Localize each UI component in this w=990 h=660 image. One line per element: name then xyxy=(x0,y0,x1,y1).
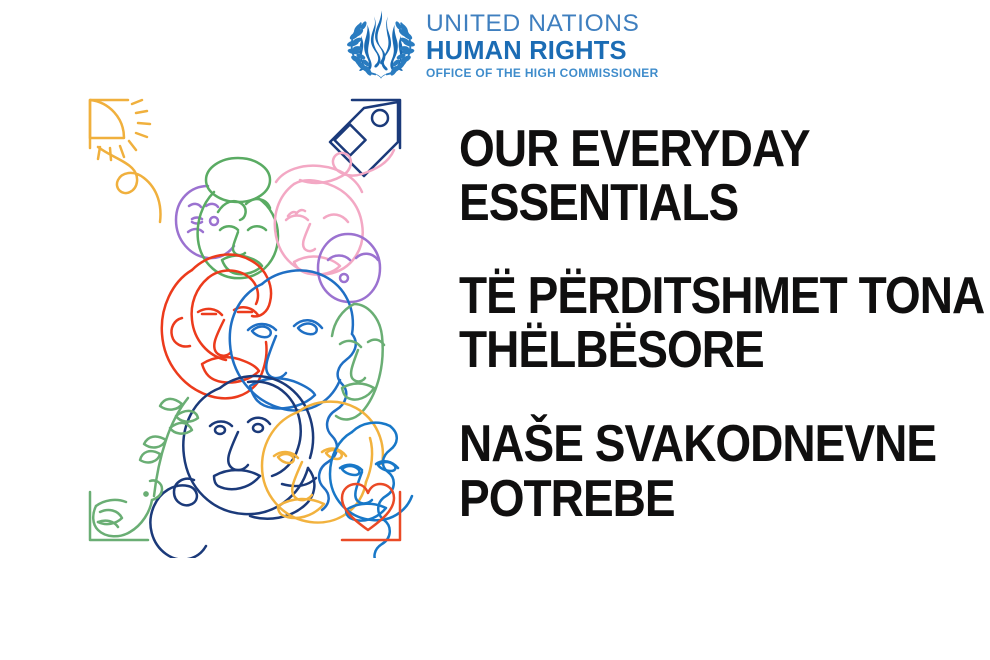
logo-human-rights: HUMAN RIGHTS xyxy=(426,37,666,66)
headline-english: OUR EVERYDAY ESSENTIALS xyxy=(459,122,990,231)
headline-albanian: TË PËRDITSHMET TONA THËLBËSORE xyxy=(459,269,990,378)
logo-office-of-the-high-commissioner: OFFICE OF THE HIGH COMMISSIONER xyxy=(426,66,659,81)
poster-canvas: UNITED NATIONS HUMAN RIGHTS OFFICE OF TH… xyxy=(0,0,990,660)
headline-serbian: NAŠE SVAKODNEVNE POTREBE xyxy=(459,417,990,526)
headline-albanian-line-2: THËLBËSORE xyxy=(459,323,937,377)
price-tag-icon xyxy=(330,100,400,176)
face-purple-right xyxy=(318,234,380,302)
headline-english-line-1: OUR EVERYDAY xyxy=(459,122,937,176)
diverse-faces-illustration xyxy=(62,82,428,558)
headline-english-line-2: ESSENTIALS xyxy=(459,176,937,230)
headline-serbian-line-2: POTREBE xyxy=(459,472,937,526)
logo-united-nations: UNITED NATIONS xyxy=(426,12,666,37)
face-navy-hijab xyxy=(150,376,316,558)
dove-olive-branch-icon xyxy=(90,398,198,540)
headline-serbian-line-1: NAŠE SVAKODNEVNE xyxy=(459,417,937,471)
face-purple-upper xyxy=(176,186,234,258)
sun-icon xyxy=(90,100,150,160)
headline-stack: OUR EVERYDAY ESSENTIALS TË PËRDITSHMET T… xyxy=(459,122,990,526)
headline-albanian-line-1: TË PËRDITSHMET TONA xyxy=(459,269,937,323)
un-human-rights-emblem xyxy=(345,6,417,80)
logo-wordmark: UNITED NATIONS HUMAN RIGHTS OFFICE OF TH… xyxy=(426,6,666,81)
un-human-rights-logo: UNITED NATIONS HUMAN RIGHTS OFFICE OF TH… xyxy=(345,6,666,81)
